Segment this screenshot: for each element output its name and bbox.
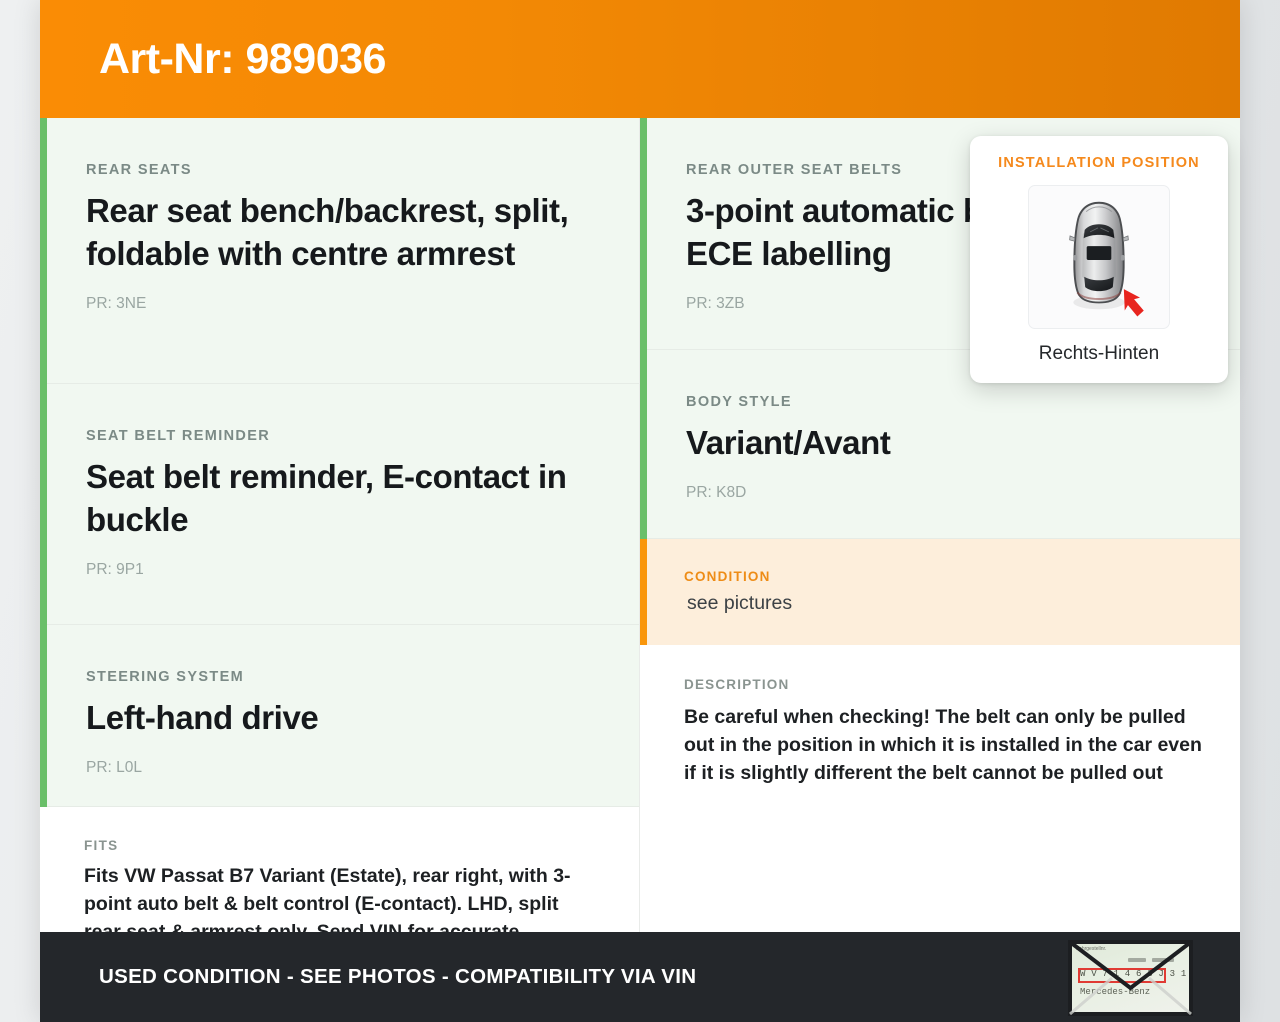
spec-pr-code: PR: 3NE xyxy=(86,295,593,313)
spec-label: BODY STYLE xyxy=(686,394,1194,410)
spec-pr-code: PR: 9P1 xyxy=(86,561,593,579)
header-bar: Art-Nr: 989036 xyxy=(40,0,1240,118)
footer-bar: USED CONDITION - SEE PHOTOS - COMPATIBIL… xyxy=(40,932,1240,1022)
left-column: REAR SEATS Rear seat bench/backrest, spl… xyxy=(40,118,640,932)
spec-value: Seat belt reminder, E-contact in buckle xyxy=(86,456,593,542)
condition-block: CONDITION see pictures xyxy=(640,539,1240,645)
spec-label: REAR SEATS xyxy=(86,162,593,178)
content-area: REAR SEATS Rear seat bench/backrest, spl… xyxy=(40,118,1240,932)
spec-label: SEAT BELT REMINDER xyxy=(86,428,593,444)
spec-block-seat-belt-reminder: SEAT BELT REMINDER Seat belt reminder, E… xyxy=(40,384,639,625)
spec-label: STEERING SYSTEM xyxy=(86,669,593,685)
spec-value: Variant/Avant xyxy=(686,422,1194,465)
envelope-icon[interactable]: Fahrgestellnr. W V 7 1 4 6 3 J 3 1 0 4 8… xyxy=(1068,940,1193,1016)
condition-label: CONDITION xyxy=(684,569,1194,584)
spec-pr-code: PR: K8D xyxy=(686,484,1194,502)
position-arrow-icon xyxy=(1124,289,1144,316)
condition-value: see pictures xyxy=(684,592,1194,615)
footer-text: USED CONDITION - SEE PHOTOS - COMPATIBIL… xyxy=(40,965,696,989)
spec-value: Rear seat bench/backrest, split, foldabl… xyxy=(86,190,593,276)
car-top-view-icon xyxy=(1028,185,1170,329)
spec-block-rear-seats: REAR SEATS Rear seat bench/backrest, spl… xyxy=(40,118,639,384)
description-text: Be careful when checking! The belt can o… xyxy=(684,703,1210,787)
description-block: DESCRIPTION Be careful when checking! Th… xyxy=(640,645,1240,932)
fits-label: FITS xyxy=(84,838,593,853)
installation-position-caption: Rechts-Hinten xyxy=(986,343,1212,365)
installation-position-card[interactable]: INSTALLATION POSITION xyxy=(970,136,1228,383)
spec-value: Left-hand drive xyxy=(86,697,593,740)
description-label: DESCRIPTION xyxy=(684,677,1210,692)
page-title: Art-Nr: 989036 xyxy=(40,38,386,81)
spec-block-steering-system: STEERING SYSTEM Left-hand drive PR: L0L xyxy=(40,625,639,807)
spec-pr-code: PR: L0L xyxy=(86,759,593,777)
listing-card: Art-Nr: 989036 REAR SEATS Rear seat benc… xyxy=(40,0,1240,1022)
installation-position-title: INSTALLATION POSITION xyxy=(986,155,1212,171)
